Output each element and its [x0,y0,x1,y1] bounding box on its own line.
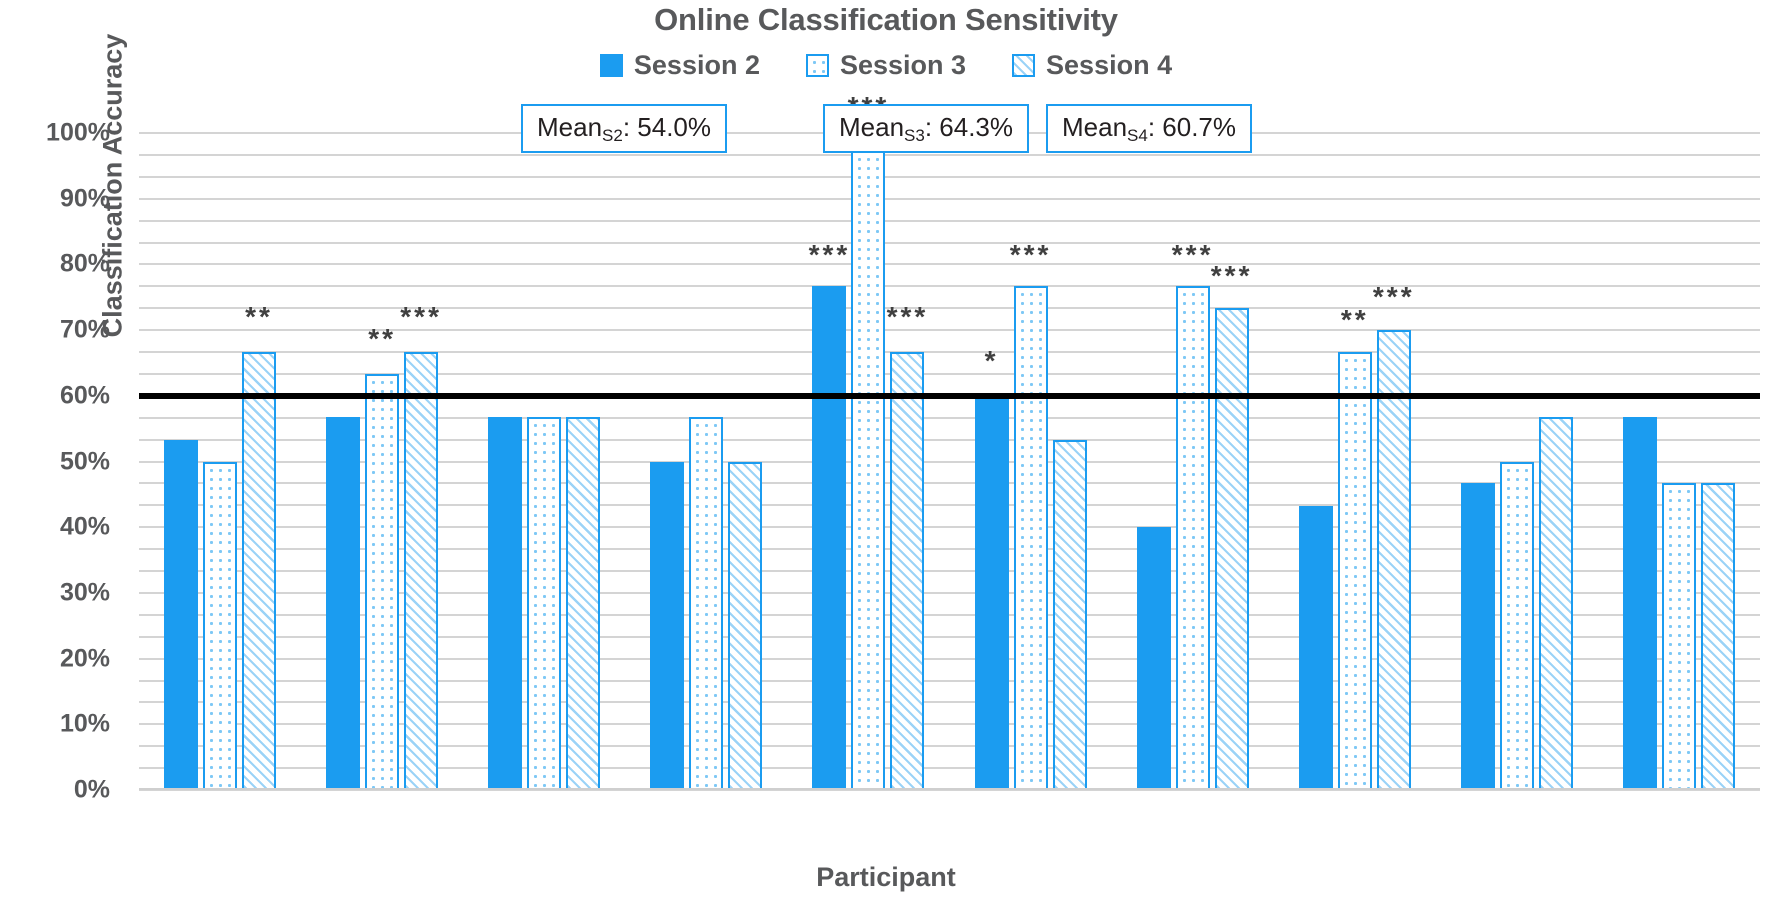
significance-marker: * [985,347,999,375]
bar-session-3[interactable] [1014,286,1048,790]
bar-session-4[interactable] [1701,483,1735,790]
x-axis-title: Participant [0,862,1772,893]
bar-session-2[interactable] [1137,527,1171,790]
significance-marker: *** [1211,262,1253,290]
hatched-square-icon [1012,54,1035,77]
bar-session-4[interactable] [1215,308,1249,790]
bar-session-3[interactable] [689,417,723,790]
mean-prefix: Mean [839,112,904,142]
bar-session-2[interactable] [650,462,684,791]
bar-session-4[interactable] [728,462,762,791]
legend-label: Session 2 [634,50,760,81]
bar-session-2[interactable] [1461,483,1495,790]
bar-session-3[interactable] [1500,462,1534,791]
mean-subscript: S2 [602,126,623,145]
bar-session-2[interactable] [488,417,522,790]
bar-session-2[interactable] [1299,506,1333,790]
mean-s3-box: MeanS3: 64.3% [823,104,1029,153]
bar-group [1598,133,1760,790]
bar-group [463,133,625,790]
bar-session-2[interactable] [812,286,846,790]
y-axis-tick-label: 100% [0,119,110,148]
legend-item-session-4[interactable]: Session 4 [1012,50,1172,81]
mean-value: : 54.0% [623,112,711,142]
mean-s4-box: MeanS4: 60.7% [1046,104,1252,153]
mean-subscript: S4 [1127,126,1148,145]
bar-session-4[interactable] [1539,417,1573,790]
bar-group [950,133,1112,790]
bar-group [301,133,463,790]
bar-group [625,133,787,790]
y-axis-tick-label: 80% [0,250,110,279]
significance-marker: *** [1373,283,1415,311]
legend-item-session-2[interactable]: Session 2 [600,50,760,81]
bar-session-4[interactable] [1377,330,1411,790]
y-axis-tick-label: 40% [0,513,110,542]
y-axis-tick-label: 70% [0,316,110,345]
chart-legend: Session 2 Session 3 Session 4 [0,50,1772,81]
bar-session-2[interactable] [326,417,360,790]
solid-square-icon [600,54,623,77]
bar-session-4[interactable] [404,352,438,790]
legend-label: Session 3 [840,50,966,81]
x-axis-baseline [139,788,1760,790]
mean-prefix: Mean [1062,112,1127,142]
bar-group [1274,133,1436,790]
bar-group [139,133,301,790]
chart-figure: Online Classification Sensitivity Sessio… [0,0,1772,917]
legend-item-session-3[interactable]: Session 3 [806,50,966,81]
mean-value: : 64.3% [925,112,1013,142]
significance-marker: *** [400,303,442,331]
significance-marker: *** [809,241,851,269]
bar-session-4[interactable] [1053,440,1087,790]
bar-session-3[interactable] [1662,483,1696,790]
bar-session-3[interactable] [851,133,885,790]
bar-session-4[interactable] [566,417,600,790]
bar-group [787,133,949,790]
page-title: Online Classification Sensitivity [0,2,1772,38]
bar-session-2[interactable] [1623,417,1657,790]
y-axis-tick-label: 0% [0,776,110,805]
dotted-square-icon [806,54,829,77]
bar-session-3[interactable] [203,462,237,791]
bar-session-4[interactable] [242,352,276,790]
bar-session-4[interactable] [890,352,924,790]
bar-session-3[interactable] [365,374,399,790]
y-axis-tick-label: 90% [0,184,110,213]
bar-session-3[interactable] [1176,286,1210,790]
significance-marker: ** [245,303,273,331]
threshold-line [139,393,1760,399]
significance-marker: *** [1172,241,1214,269]
y-axis-tick-label: 60% [0,381,110,410]
y-axis-tick-label: 20% [0,644,110,673]
bar-group [1436,133,1598,790]
mean-prefix: Mean [537,112,602,142]
significance-marker: *** [887,303,929,331]
plot-area: 0%10%20%30%40%50%60%70%80%90%100% ******… [139,133,1760,790]
mean-s2-box: MeanS2: 54.0% [521,104,727,153]
bar-session-3[interactable] [1338,352,1372,790]
y-axis-tick-label: 30% [0,578,110,607]
y-axis-tick-label: 10% [0,710,110,739]
bar-session-2[interactable] [164,440,198,790]
bar-group [1112,133,1274,790]
mean-value: : 60.7% [1148,112,1236,142]
mean-subscript: S3 [904,126,925,145]
legend-label: Session 4 [1046,50,1172,81]
significance-marker: ** [368,325,396,353]
significance-marker: *** [1010,241,1052,269]
y-axis-tick-label: 50% [0,447,110,476]
significance-marker: ** [1341,306,1369,334]
bar-session-3[interactable] [527,417,561,790]
bar-session-2[interactable] [975,396,1009,790]
